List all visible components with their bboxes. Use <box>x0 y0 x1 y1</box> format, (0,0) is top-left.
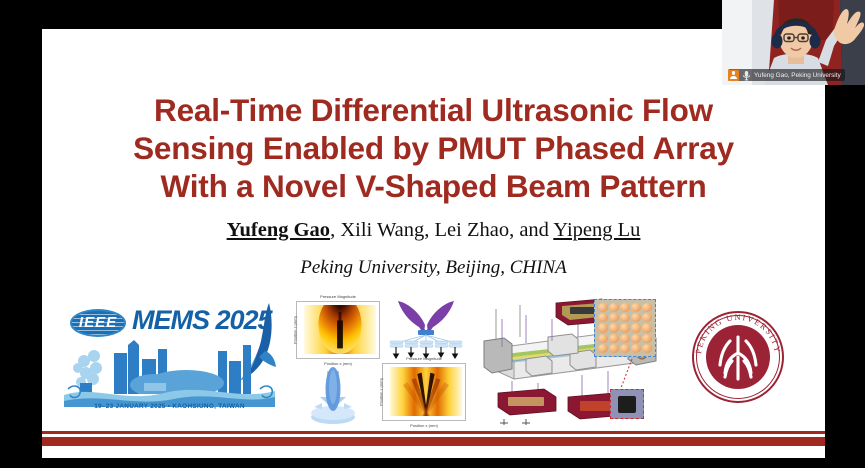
slide-title: Real-Time Differential Ultrasonic Flow S… <box>42 91 825 205</box>
title-line-3: With a Novel V-Shaped Beam Pattern <box>42 167 825 205</box>
simulation-figure-panel: Pressure Magnitude Position z (mm) Posit… <box>290 297 468 427</box>
heatmap-bottom-plot <box>390 367 462 416</box>
packaged-chip-zoom <box>610 389 644 419</box>
heatmap-bottom-xlabel: Position x (mm) <box>383 423 465 428</box>
ieee-mems-2025-logo: IEEE MEMS 2025 <box>62 299 277 421</box>
conference-dates: 19–23 JANUARY 2025 • KAOHSIUNG, TAIWAN <box>62 403 277 410</box>
title-line-1: Real-Time Differential Ultrasonic Flow <box>42 91 825 129</box>
setup-figure-panel <box>482 297 682 427</box>
heatmap-top-plot <box>304 305 376 354</box>
screen-root: Real-Time Differential Ultrasonic Flow S… <box>0 0 865 468</box>
heatmap-bottom-ylabel: Position z (mm) <box>378 378 383 406</box>
accent-rule-thin <box>42 431 825 434</box>
affiliation: Peking University, Beijing, CHINA <box>42 257 825 279</box>
heatmap-top-title: Pressure Magnitude <box>297 294 379 299</box>
beam-heatmap-vshaped: Pressure Magnitude Position z (mm) Posit… <box>382 363 466 421</box>
peking-university-seal: PEKING UNIVERSITY 1898 <box>686 303 790 413</box>
microphone-icon[interactable] <box>742 70 751 81</box>
last-author: Yipeng Lu <box>553 219 640 241</box>
presentation-slide[interactable]: Real-Time Differential Ultrasonic Flow S… <box>42 29 825 458</box>
lead-author: Yufeng Gao <box>227 219 330 241</box>
person-icon <box>728 70 739 81</box>
title-line-2: Sensing Enabled by PMUT Phased Array <box>42 129 825 167</box>
author-list: Yufeng Gao, Xili Wang, Lei Zhao, and Yip… <box>42 219 825 242</box>
beam-heatmap-single: Pressure Magnitude Position z (mm) Posit… <box>296 301 380 359</box>
webcam-overlay[interactable]: Yufeng Gao, Peking University <box>722 0 865 85</box>
heatmap-top-ylabel: Position z (mm) <box>292 316 297 344</box>
figure-row: IEEE MEMS 2025 <box>42 297 825 427</box>
participant-name: Yufeng Gao, Peking University <box>754 72 841 79</box>
ieee-logo-icon: IEEE <box>70 309 126 337</box>
v-beam-diagram <box>386 299 466 359</box>
accent-rule-thick <box>42 437 825 446</box>
middle-authors: , Xili Wang, Lei Zhao, and <box>330 219 553 241</box>
pmut-array-die-zoom <box>594 299 656 357</box>
beam-3d-render <box>300 363 366 425</box>
participant-nameplate: Yufeng Gao, Peking University <box>728 69 845 81</box>
